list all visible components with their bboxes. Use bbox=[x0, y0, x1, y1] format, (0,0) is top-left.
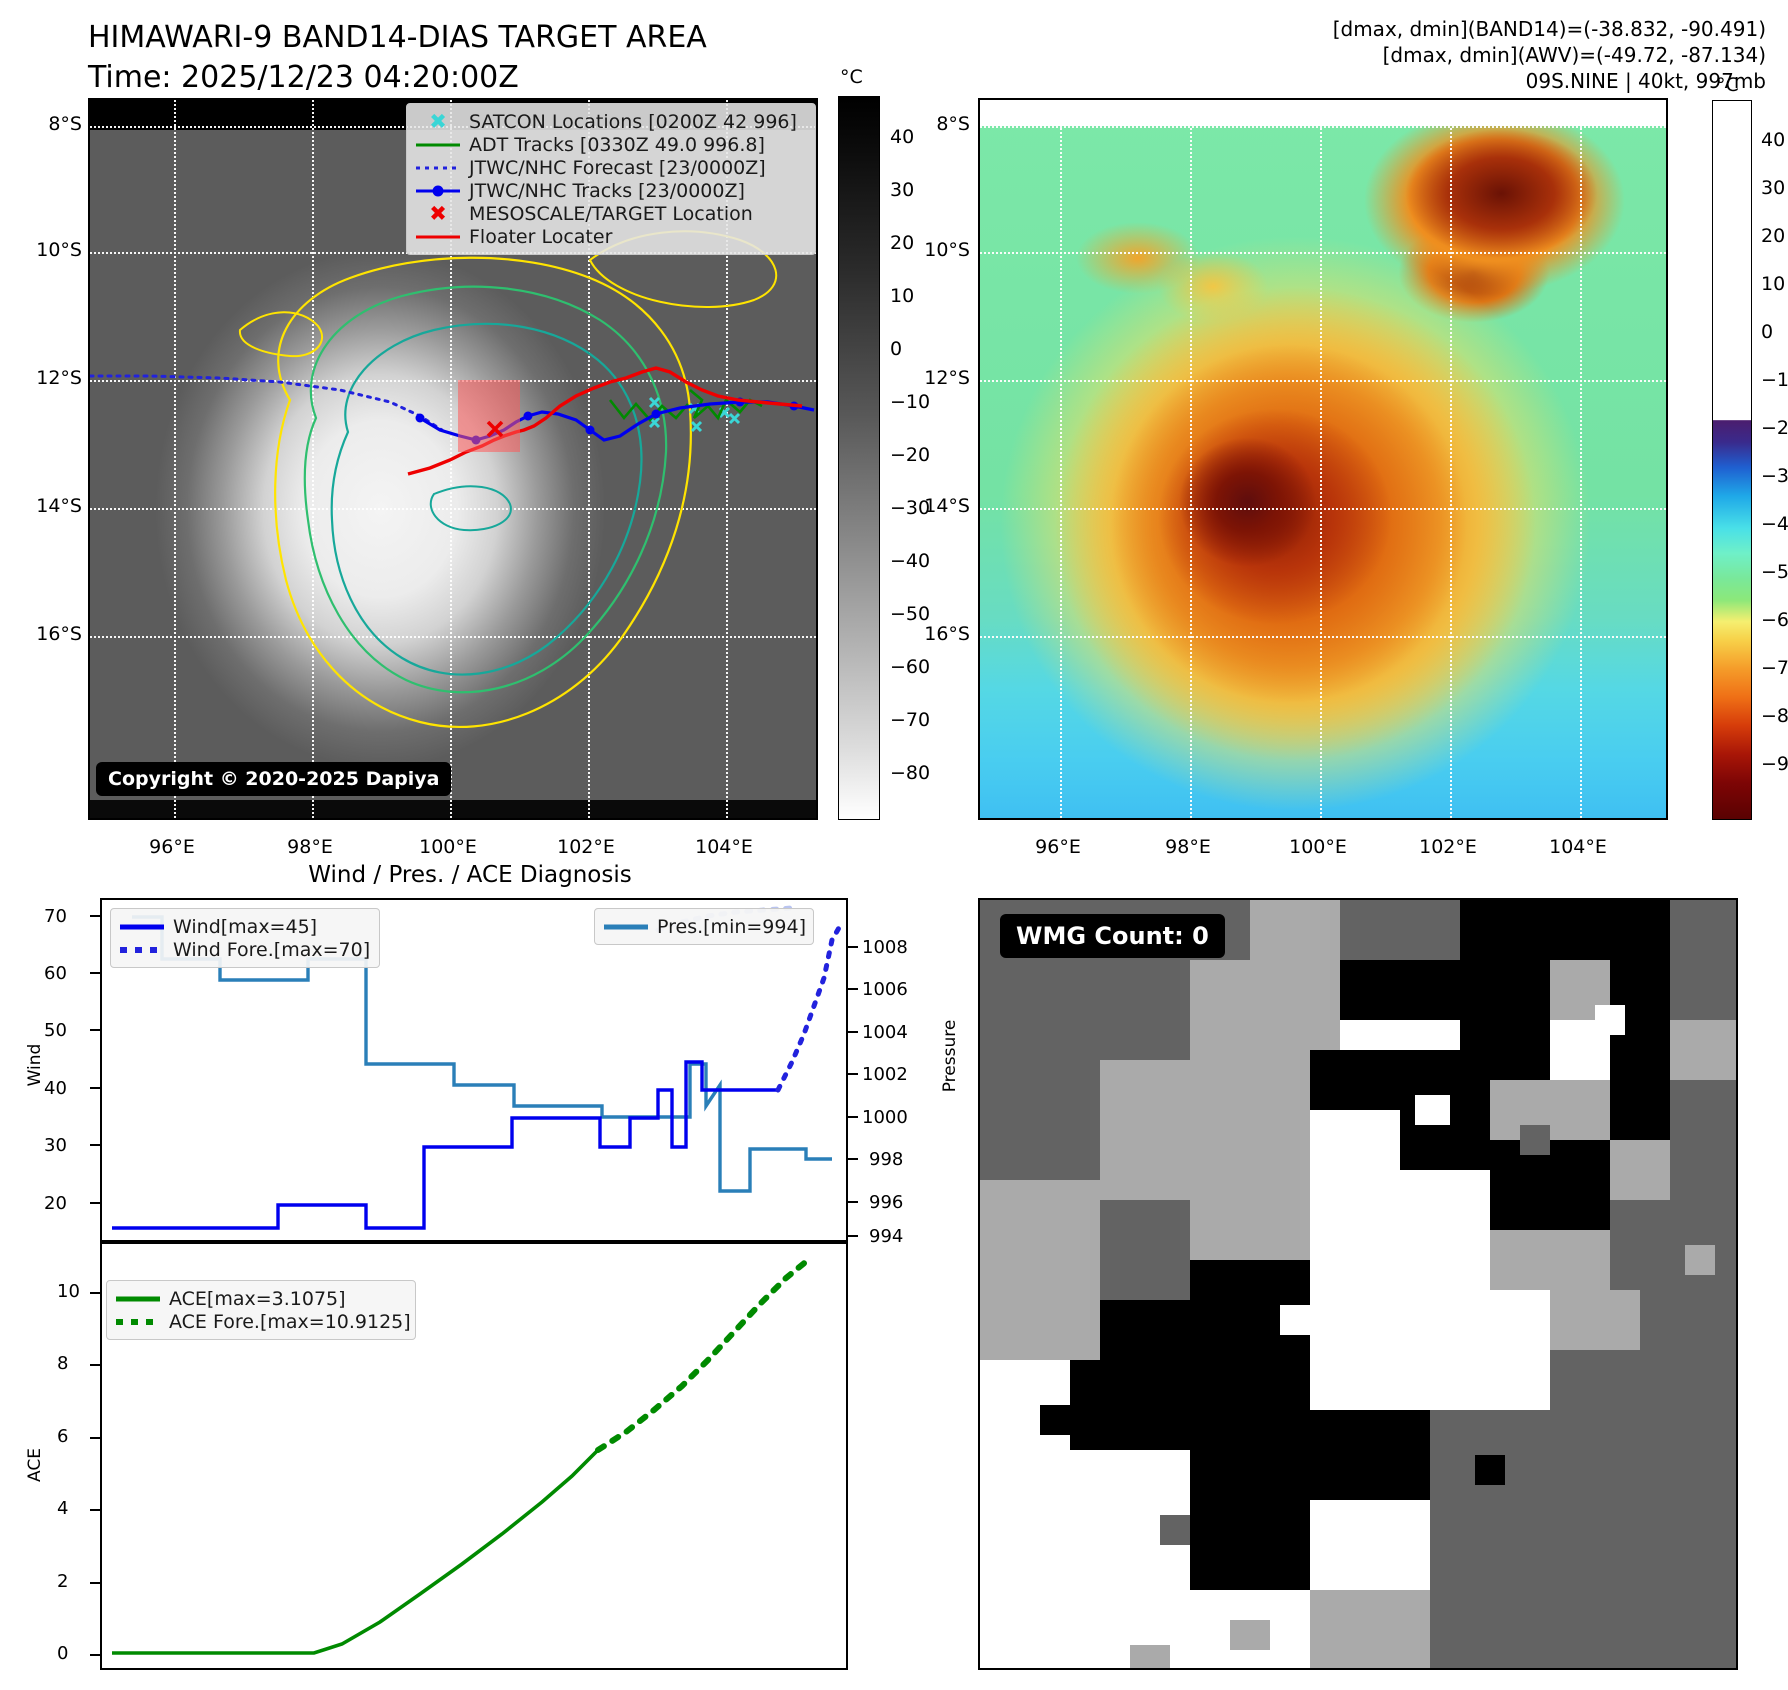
header-readout: [dmax, dmin](BAND14)=(-38.832, -90.491) … bbox=[1333, 16, 1766, 94]
page-title: HIMAWARI-9 BAND14-DIAS TARGET AREA Time:… bbox=[88, 18, 848, 98]
ace-ytick: 0 bbox=[57, 1643, 68, 1664]
ace-tickmark bbox=[90, 1654, 100, 1656]
legend-item-wind-forecast: Wind Fore.[max=70] bbox=[120, 938, 370, 961]
pressure-tickmark bbox=[848, 1031, 858, 1033]
legend-item-wind: Wind[max=45] bbox=[120, 915, 370, 938]
lon-tick: 100°E bbox=[1289, 836, 1347, 858]
colorbar-right-tick: 40 bbox=[1761, 129, 1785, 151]
colorbar-left-tick: −80 bbox=[890, 762, 930, 784]
adt-line-icon bbox=[416, 136, 460, 154]
title-line-2: Time: 2025/12/23 04:20:00Z bbox=[88, 58, 848, 98]
pressure-ytick: 998 bbox=[869, 1149, 903, 1170]
colorbar-right-tick: 10 bbox=[1761, 273, 1785, 295]
ace-ytick: 10 bbox=[57, 1281, 80, 1302]
title-line-1: HIMAWARI-9 BAND14-DIAS TARGET AREA bbox=[88, 18, 848, 58]
lon-tick: 98°E bbox=[287, 836, 333, 858]
ace-tickmark bbox=[90, 1582, 100, 1584]
legend-item-pressure: Pres.[min=994] bbox=[604, 915, 804, 938]
storm-summary: 09S.NINE | 40kt, 997mb bbox=[1333, 68, 1766, 94]
contour-teal bbox=[431, 486, 511, 530]
ace-ytick: 6 bbox=[57, 1426, 68, 1447]
colorbar-left bbox=[838, 96, 880, 820]
wind-line-icon bbox=[120, 918, 164, 936]
ace-legend: ACE[max=3.1075] ACE Fore.[max=10.9125] bbox=[106, 1280, 416, 1340]
colorbar-right-tick: 30 bbox=[1761, 177, 1785, 199]
ir-enhanced-nodata-top bbox=[980, 100, 1666, 126]
dmax-dmin-band14: [dmax, dmin](BAND14)=(-38.832, -90.491) bbox=[1333, 16, 1766, 42]
lon-tick: 98°E bbox=[1165, 836, 1211, 858]
lat-tick: 14°S bbox=[900, 495, 970, 517]
wind-legend: Wind[max=45] Wind Fore.[max=70] bbox=[110, 908, 380, 968]
ace-line bbox=[112, 1450, 598, 1653]
wind-tickmark bbox=[90, 915, 100, 917]
pressure-ytick: 1006 bbox=[862, 979, 908, 1000]
pressure-tickmark bbox=[848, 1158, 858, 1160]
grid-line-lat bbox=[980, 508, 1666, 510]
pressure-ytick: 1000 bbox=[862, 1107, 908, 1128]
wind-tickmark bbox=[90, 1029, 100, 1031]
wind-ytick: 60 bbox=[44, 963, 67, 984]
ace-tickmark bbox=[90, 1364, 100, 1366]
wind-tickmark bbox=[90, 1087, 100, 1089]
grid-line-lat bbox=[980, 636, 1666, 638]
pressure-ytick: 1002 bbox=[862, 1064, 908, 1085]
target-area-box bbox=[458, 380, 520, 452]
colorbar-right-tick: −20 bbox=[1761, 417, 1788, 439]
lon-tick: 104°E bbox=[1549, 836, 1607, 858]
ace-tickmark bbox=[90, 1437, 100, 1439]
colorbar-left-tick: −60 bbox=[890, 656, 930, 678]
copyright-badge: Copyright © 2020-2025 Dapiya bbox=[96, 762, 451, 796]
ace-ytick: 8 bbox=[57, 1353, 68, 1374]
lon-tick: 102°E bbox=[1419, 836, 1477, 858]
colorbar-right-tick: 0 bbox=[1761, 321, 1773, 343]
wind-ytick: 70 bbox=[44, 906, 67, 927]
wind-forecast-dotted-icon bbox=[120, 941, 164, 959]
wmg-mosaic-panel[interactable]: WMG Count: 0 bbox=[978, 898, 1738, 1670]
contour-yellow bbox=[240, 312, 322, 356]
pressure-tickmark bbox=[848, 1201, 858, 1203]
colorbar-right-unit: °C bbox=[1716, 74, 1739, 96]
pressure-tickmark bbox=[848, 946, 858, 948]
grid-line-lon bbox=[1060, 100, 1062, 818]
colorbar-right-tick: −90 bbox=[1761, 753, 1788, 775]
pressure-tickmark bbox=[848, 1073, 858, 1075]
jtwc-forecast-track bbox=[90, 376, 442, 430]
wmg-mosaic bbox=[980, 900, 1736, 1668]
ace-ytick: 2 bbox=[57, 1571, 68, 1592]
colorbar-left-gradient bbox=[839, 97, 879, 819]
pressure-tickmark bbox=[848, 1235, 858, 1237]
ace-tickmark bbox=[90, 1292, 100, 1294]
grid-line-lon bbox=[1190, 100, 1192, 818]
wind-ytick: 20 bbox=[44, 1193, 67, 1214]
lat-tick: 10°S bbox=[900, 239, 970, 261]
ace-line-icon bbox=[116, 1290, 160, 1308]
colorbar-left-tick: −10 bbox=[890, 391, 930, 413]
lat-tick: 16°S bbox=[12, 623, 82, 645]
legend-item-jtwc-forecast: JTWC/NHC Forecast [23/0000Z] bbox=[416, 156, 806, 179]
ir-enhanced-map-panel[interactable] bbox=[978, 98, 1668, 820]
contour-yellow bbox=[275, 258, 691, 727]
contour-teal bbox=[332, 324, 642, 675]
legend-item-floater: Floater Locater bbox=[416, 225, 806, 248]
pressure-ytick: 996 bbox=[869, 1192, 903, 1213]
grid-line-lat bbox=[980, 126, 1666, 128]
colorbar-right-tick: −60 bbox=[1761, 609, 1788, 631]
contour-green bbox=[305, 287, 666, 693]
pressure-ytick: 1008 bbox=[862, 937, 908, 958]
legend-item-ace: ACE[max=3.1075] bbox=[116, 1287, 406, 1310]
lat-tick: 10°S bbox=[12, 239, 82, 261]
colorbar-left-tick: 10 bbox=[890, 285, 914, 307]
pressure-ytick: 1004 bbox=[862, 1022, 908, 1043]
mesoscale-x-icon: ✖ bbox=[416, 205, 460, 223]
pressure-ytick: 994 bbox=[869, 1226, 903, 1247]
wind-tickmark bbox=[90, 972, 100, 974]
wmg-cells bbox=[980, 900, 1736, 1668]
wind-axis-label: Wind bbox=[25, 1035, 45, 1095]
colorbar-right-gradient bbox=[1713, 101, 1751, 819]
wind-tickmark bbox=[90, 1144, 100, 1146]
colorbar-right bbox=[1712, 100, 1752, 820]
legend-item-adt: ADT Tracks [0330Z 49.0 996.8] bbox=[416, 133, 806, 156]
diagnosis-chart-title: Wind / Pres. / ACE Diagnosis bbox=[308, 862, 631, 888]
lon-tick: 100°E bbox=[419, 836, 477, 858]
colorbar-left-tick: 0 bbox=[890, 338, 902, 360]
wmg-count-badge: WMG Count: 0 bbox=[1000, 914, 1225, 958]
wind-ytick: 50 bbox=[44, 1020, 67, 1041]
ace-tickmark bbox=[90, 1509, 100, 1511]
colorbar-right-tick: −80 bbox=[1761, 705, 1788, 727]
grid-line-lat bbox=[980, 252, 1666, 254]
wind-forecast-line bbox=[778, 926, 840, 1090]
lon-tick: 96°E bbox=[149, 836, 195, 858]
colorbar-right-tick: −30 bbox=[1761, 465, 1788, 487]
wind-line bbox=[112, 1062, 778, 1228]
ace-forecast-line bbox=[598, 1260, 808, 1450]
grid-line-lon bbox=[1580, 100, 1582, 818]
ace-forecast-dotted-icon bbox=[116, 1313, 160, 1331]
map-legend: ✖ SATCON Locations [0200Z 42 996] ADT Tr… bbox=[406, 103, 816, 255]
ace-ytick: 4 bbox=[57, 1498, 68, 1519]
lon-tick: 102°E bbox=[557, 836, 615, 858]
lat-tick: 16°S bbox=[900, 623, 970, 645]
colorbar-right-tick: −10 bbox=[1761, 369, 1788, 391]
jtwc-track-marker-icon bbox=[416, 182, 460, 200]
pressure-legend: Pres.[min=994] bbox=[594, 908, 814, 945]
lon-tick: 104°E bbox=[695, 836, 753, 858]
colorbar-left-tick: −70 bbox=[890, 709, 930, 731]
grid-line-lon bbox=[1320, 100, 1322, 818]
dmax-dmin-awv: [dmax, dmin](AWV)=(-49.72, -87.134) bbox=[1333, 42, 1766, 68]
colorbar-left-tick: 30 bbox=[890, 179, 914, 201]
lat-tick: 12°S bbox=[12, 367, 82, 389]
lat-tick: 14°S bbox=[12, 495, 82, 517]
ir-enhanced-cloud-field bbox=[980, 100, 1666, 818]
colorbar-right-tick: −50 bbox=[1761, 561, 1788, 583]
pressure-tickmark bbox=[848, 988, 858, 990]
grid-line-lon bbox=[1450, 100, 1452, 818]
pressure-axis-label: Pressure bbox=[940, 1011, 960, 1101]
pressure-line-icon bbox=[604, 918, 648, 936]
pressure-tickmark bbox=[848, 1116, 858, 1118]
colorbar-left-unit: °C bbox=[840, 66, 863, 88]
colorbar-left-tick: −40 bbox=[890, 550, 930, 572]
legend-item-ace-forecast: ACE Fore.[max=10.9125] bbox=[116, 1310, 406, 1333]
legend-item-mesoscale: ✖ MESOSCALE/TARGET Location bbox=[416, 202, 806, 225]
colorbar-right-tick: −70 bbox=[1761, 657, 1788, 679]
grid-line-lat bbox=[980, 380, 1666, 382]
ir-grayscale-map-panel[interactable]: Copyright © 2020-2025 Dapiya ✖ SATCON Lo… bbox=[88, 98, 818, 820]
jtwc-forecast-dotted-icon bbox=[416, 159, 460, 177]
colorbar-right-tick: 20 bbox=[1761, 225, 1785, 247]
lat-tick: 8°S bbox=[910, 113, 970, 135]
lat-tick: 12°S bbox=[900, 367, 970, 389]
ace-axis-label: ACE bbox=[25, 1435, 45, 1495]
floater-line-icon bbox=[416, 228, 460, 246]
wind-ytick: 40 bbox=[44, 1078, 67, 1099]
lat-tick: 8°S bbox=[22, 113, 82, 135]
colorbar-right-tick: −40 bbox=[1761, 513, 1788, 535]
wind-ytick: 30 bbox=[44, 1135, 67, 1156]
wind-tickmark bbox=[90, 1202, 100, 1204]
lon-tick: 96°E bbox=[1035, 836, 1081, 858]
legend-item-satcon: ✖ SATCON Locations [0200Z 42 996] bbox=[416, 110, 806, 133]
legend-item-jtwc-tracks: JTWC/NHC Tracks [23/0000Z] bbox=[416, 179, 806, 202]
colorbar-left-tick: −50 bbox=[890, 603, 930, 625]
satcon-x-icon: ✖ bbox=[416, 113, 460, 131]
colorbar-left-tick: −20 bbox=[890, 444, 930, 466]
